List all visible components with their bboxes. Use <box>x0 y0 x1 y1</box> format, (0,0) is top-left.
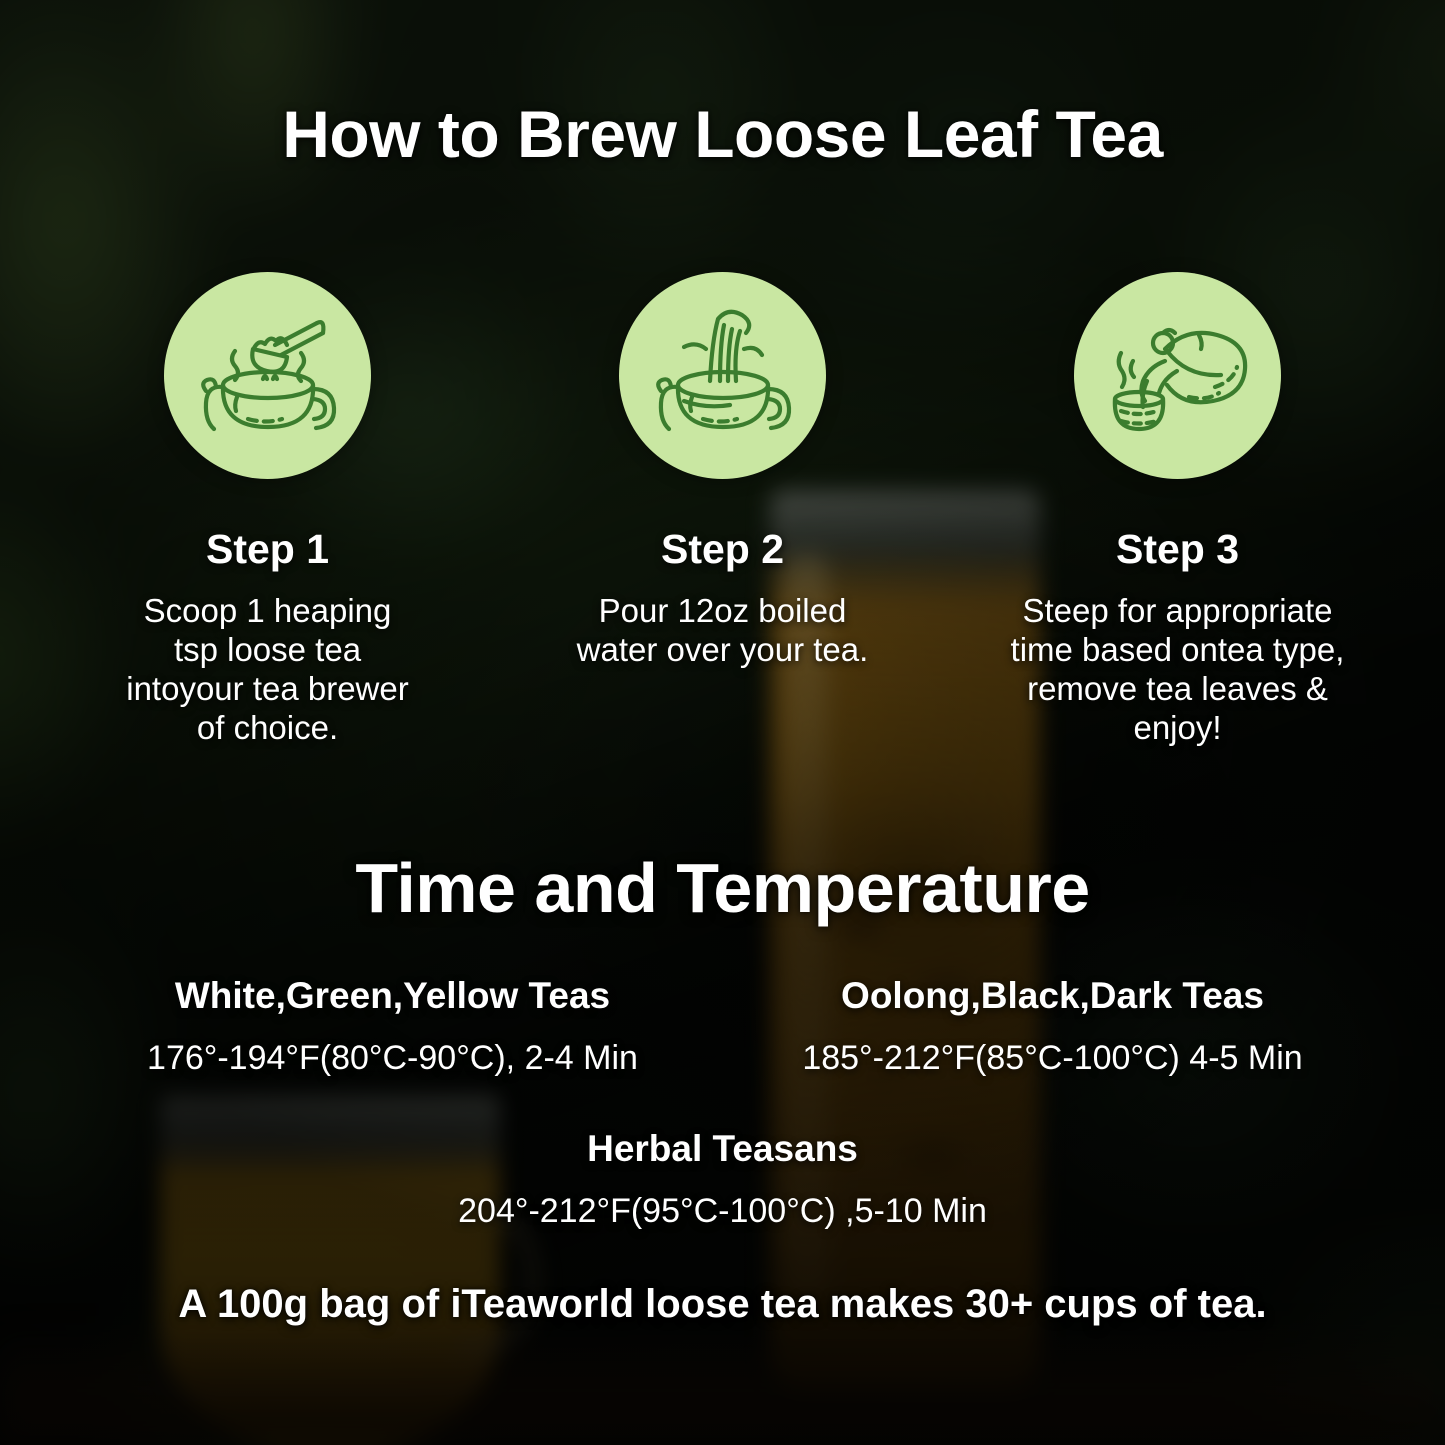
footer-note: A 100g bag of iTeaworld loose tea makes … <box>0 1282 1445 1327</box>
temperature-row-white-green-yellow: White,Green,Yellow Teas 176°-194°F(80°C-… <box>63 975 723 1078</box>
temperature-row-herbal: Herbal Teasans 204°-212°F(95°C-100°C) ,5… <box>0 1128 1445 1231</box>
step-3-icon-badge <box>1074 272 1281 479</box>
step-2-label: Step 2 <box>515 526 930 573</box>
tea-type-name: Oolong,Black,Dark Teas <box>723 975 1383 1017</box>
step-2-description: Pour 12oz boiled water over your tea. <box>515 592 930 670</box>
step-3-description: Steep for appropriate time based ontea t… <box>970 592 1385 748</box>
infographic-poster: How to Brew Loose Leaf Tea <box>0 0 1445 1445</box>
teapot-pouring-water-icon <box>648 301 798 451</box>
tea-type-value: 204°-212°F(95°C-100°C) ,5-10 Min <box>0 1192 1445 1231</box>
poster-content: How to Brew Loose Leaf Tea <box>0 0 1445 1445</box>
step-2-icon-badge <box>619 272 826 479</box>
temperature-row-oolong-black-dark: Oolong,Black,Dark Teas 185°-212°F(85°C-1… <box>723 975 1383 1078</box>
step-card-3: Step 3 Steep for appropriate time based … <box>970 272 1385 748</box>
step-1-description: Scoop 1 heaping tsp loose tea intoyour t… <box>60 592 475 748</box>
tea-type-value: 176°-194°F(80°C-90°C), 2-4 Min <box>63 1039 723 1078</box>
step-3-label: Step 3 <box>970 526 1385 573</box>
step-card-1: Step 1 Scoop 1 heaping tsp loose tea int… <box>60 272 475 748</box>
step-1-icon-badge <box>164 272 371 479</box>
step-1-label: Step 1 <box>60 526 475 573</box>
temperature-table: White,Green,Yellow Teas 176°-194°F(80°C-… <box>40 975 1405 1078</box>
steps-row: Step 1 Scoop 1 heaping tsp loose tea int… <box>60 272 1385 748</box>
page-title: How to Brew Loose Leaf Tea <box>0 96 1445 172</box>
tea-type-name: Herbal Teasans <box>0 1128 1445 1170</box>
step-card-2: Step 2 Pour 12oz boiled water over your … <box>515 272 930 670</box>
tea-type-value: 185°-212°F(85°C-100°C) 4-5 Min <box>723 1039 1383 1078</box>
time-and-temperature-heading: Time and Temperature <box>0 848 1445 928</box>
teapot-with-scoop-icon <box>193 301 343 451</box>
teapot-pouring-into-cup-icon <box>1103 301 1253 451</box>
tea-type-name: White,Green,Yellow Teas <box>63 975 723 1017</box>
